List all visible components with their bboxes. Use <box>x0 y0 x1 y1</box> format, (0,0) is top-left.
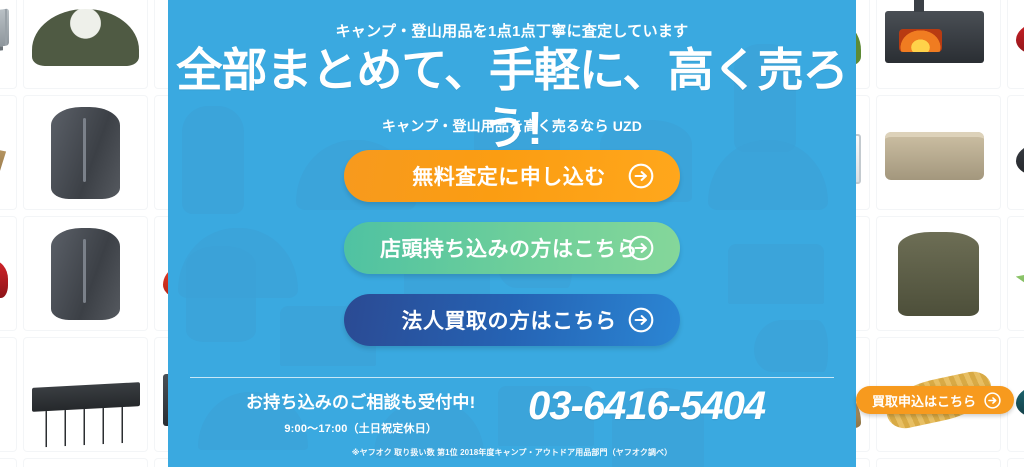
product-photo-card <box>0 0 17 89</box>
approach-shoes-icon <box>1016 139 1024 178</box>
product-photo-card <box>23 337 148 452</box>
dome-tent-icon <box>32 9 140 66</box>
business-hours: 9:00〜17:00（土日祝定休日） <box>246 420 475 436</box>
hero-subline: キャンプ・登山用品を高く売るなら UZD <box>168 116 856 136</box>
arrow-right-circle-icon <box>628 235 654 261</box>
product-photo-card <box>23 458 148 467</box>
olive-shell-jacket-icon <box>898 232 980 317</box>
product-photo-card <box>876 458 1001 467</box>
product-photo-card <box>876 95 1001 210</box>
camping-bench-table-icon <box>32 382 140 412</box>
arrow-right-circle-icon <box>628 163 654 189</box>
wood-stove-icon <box>885 11 984 63</box>
corporate-purchase-button[interactable]: 法人買取の方はこちら <box>344 294 680 346</box>
product-photo-card <box>876 216 1001 331</box>
product-photo-card <box>23 216 148 331</box>
corporate-purchase-label: 法人買取の方はこちら <box>402 305 623 335</box>
brown-tent-icon <box>0 132 8 185</box>
product-photo-card <box>0 337 17 452</box>
fineprint-note: ※ヤフオク 取り扱い数 第1位 2018年度キャンプ・アウトドア用品部門（ヤフオ… <box>168 447 856 458</box>
product-photo-card <box>1007 458 1024 467</box>
product-photo-card <box>23 95 148 210</box>
hiking-backpack-grey-icon <box>51 228 120 320</box>
product-photo-card <box>1007 0 1024 89</box>
page-title: 全部まとめて、手軽に、高く売ろう! <box>168 42 856 157</box>
folding-grill-icon <box>0 8 8 60</box>
arrow-right-circle-icon <box>984 392 1001 409</box>
product-photo-card <box>876 0 1001 89</box>
product-photo-card <box>0 95 17 210</box>
store-dropoff-button[interactable]: 店頭持ち込みの方はこちら <box>344 222 680 274</box>
green-groundsheet-icon <box>1016 262 1024 299</box>
footer-divider <box>190 377 834 378</box>
teal-hiking-boot-icon <box>1016 381 1024 420</box>
phone-number-link[interactable]: 03-6416-5404 <box>528 384 765 429</box>
cta-stack: 無料査定に申し込む 店頭持ち込みの方はこちら <box>168 150 856 366</box>
hiking-backpack-icon <box>51 107 120 199</box>
walkin-info: お持ち込みのご相談も受付中! 9:00〜17:00（土日祝定休日） <box>246 388 475 436</box>
landing-page: キャンプ・登山用品を1点1点丁寧に査定しています 全部まとめて、手軽に、高く売ろ… <box>0 0 1024 467</box>
product-photo-card <box>0 458 17 467</box>
hero-eyebrow: キャンプ・登山用品を1点1点丁寧に査定しています <box>168 20 856 41</box>
free-appraisal-button[interactable]: 無料査定に申し込む <box>344 150 680 202</box>
product-photo-card <box>1007 95 1024 210</box>
store-dropoff-label: 店頭持ち込みの方はこちら <box>380 233 644 263</box>
floating-apply-button[interactable]: 買取申込はこちら <box>856 386 1014 414</box>
arrow-right-circle-icon <box>628 307 654 333</box>
yeti-cooler-icon <box>885 132 984 180</box>
red-shoe-icon <box>1016 18 1024 57</box>
free-appraisal-label: 無料査定に申し込む <box>412 161 612 191</box>
product-photo-card <box>23 0 148 89</box>
product-photo-card <box>1007 216 1024 331</box>
trail-shoes-icon <box>0 260 8 299</box>
product-photo-card <box>0 216 17 331</box>
walkin-title: お持ち込みのご相談も受付中! <box>246 388 475 413</box>
floating-apply-label: 買取申込はこちら <box>872 391 976 410</box>
hero-footer: お持ち込みのご相談も受付中! 9:00〜17:00（土日祝定休日） 03-641… <box>168 388 856 444</box>
hero-panel: キャンプ・登山用品を1点1点丁寧に査定しています 全部まとめて、手軽に、高く売ろ… <box>168 0 856 467</box>
